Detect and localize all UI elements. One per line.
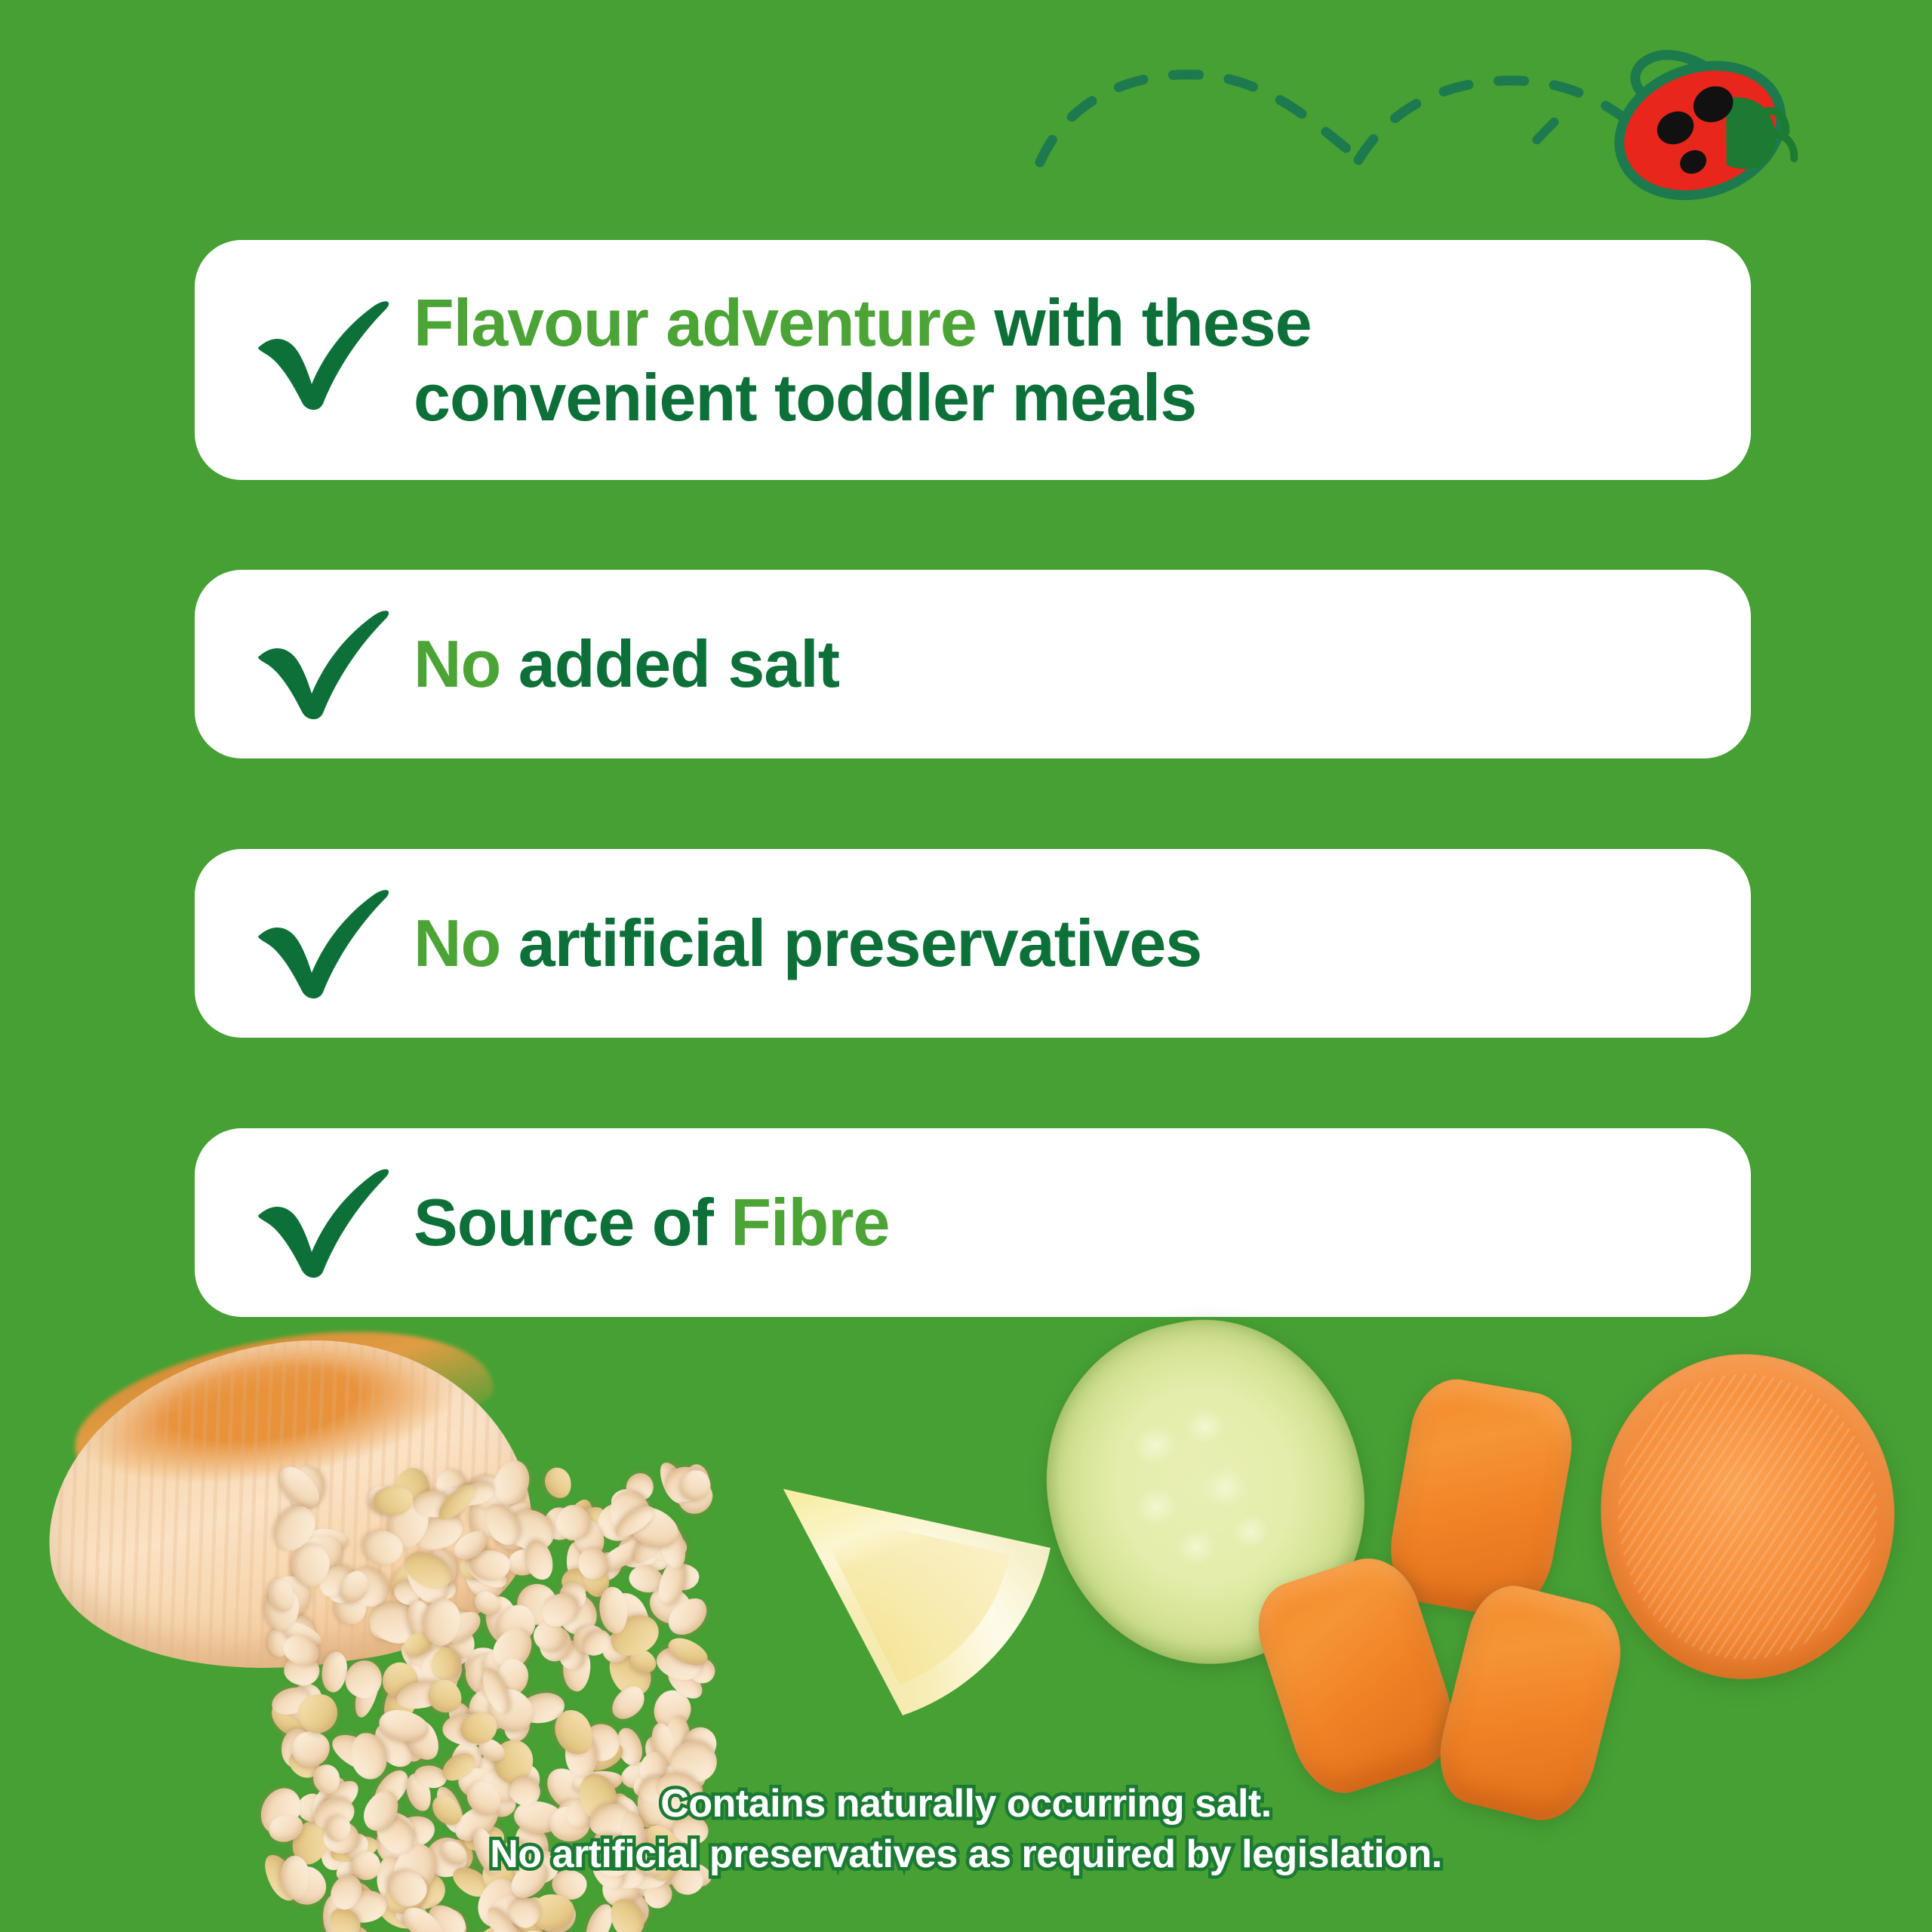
dashed-bounce-trail [1040,75,1664,162]
pasta-piece [541,1465,575,1502]
benefit-text: Source of Fibre [414,1186,1751,1260]
benefit-text: Flavour adventure with these convenient … [414,285,1751,435]
sweet-potato-slice [1584,1340,1911,1694]
benefit-line: No artificial preservatives [414,907,1706,980]
benefit-segment: with these [977,285,1312,360]
benefit-card-source-of-fibre[interactable]: Source of Fibre [195,1128,1751,1317]
ladybird-mascot [1527,38,1804,230]
check-tick-icon [254,887,397,1000]
pasta-piece [344,1658,385,1700]
benefit-card-flavour-adventure[interactable]: Flavour adventure with these convenient … [195,240,1751,480]
pasta-piece [319,1650,349,1694]
benefit-line: No added salt [414,628,1706,701]
benefit-segment: Fibre [731,1185,889,1260]
benefit-segment: artificial preservatives [500,906,1201,980]
benefit-segment: convenient toddler meals [414,360,1196,435]
check-tick-icon [254,608,397,721]
benefit-segment: added salt [500,626,839,701]
lemon-wedge-rind [770,1475,1064,1724]
benefit-line: Source of Fibre [414,1186,1706,1260]
footnote-line-1: Contains naturally occurring salt. [0,1779,1932,1830]
benefit-text: No added salt [414,628,1751,701]
benefit-segment: No [414,906,500,980]
footnote-line-2: No artificial preservatives as required … [0,1829,1932,1881]
benefit-card-no-added-salt[interactable]: No added salt [195,570,1751,758]
benefit-segment: Source of [414,1185,731,1260]
benefit-segment: Flavour adventure [414,285,977,360]
benefit-text: No artificial preservatives [414,907,1751,980]
check-tick-icon [254,1166,397,1279]
promo-canvas: Flavour adventure with these convenient … [0,0,1932,1932]
benefit-card-no-artificial-preservatives[interactable]: No artificial preservatives [195,849,1751,1038]
check-tick-icon [254,298,397,411]
benefit-line: Flavour adventure with these [414,285,1706,360]
benefit-segment: No [414,626,500,701]
legal-footnote: Contains naturally occurring salt. No ar… [0,1779,1932,1881]
benefit-line: convenient toddler meals [414,360,1706,435]
